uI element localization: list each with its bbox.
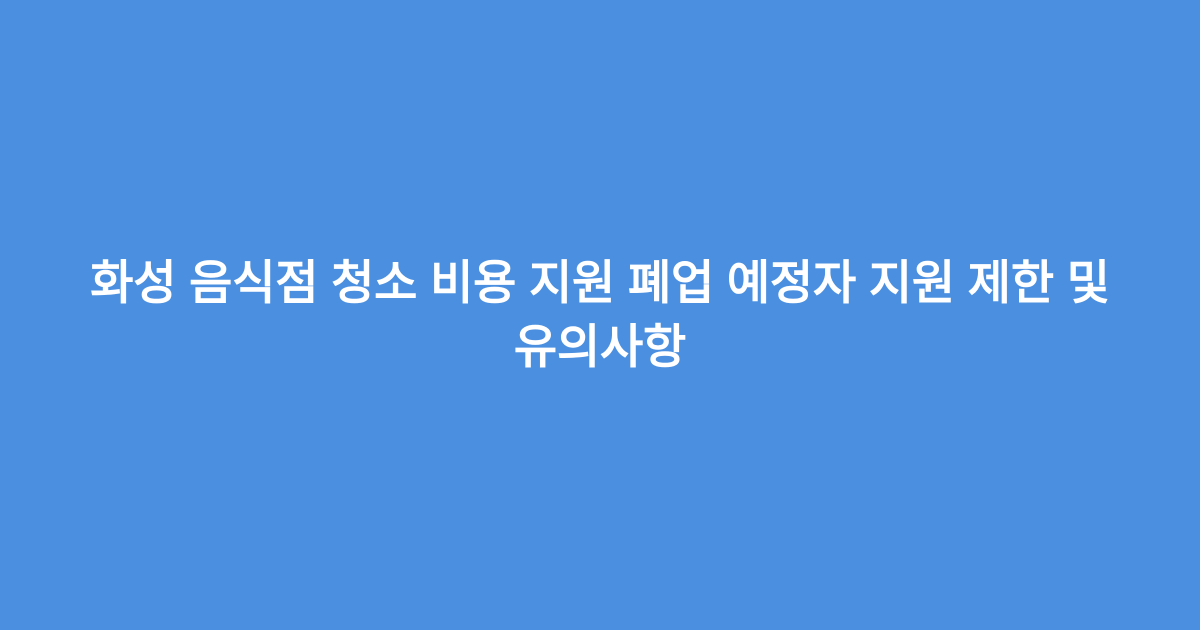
share-card: 화성 음식점 청소 비용 지원 폐업 예정자 지원 제한 및 유의사항 [0, 0, 1200, 630]
page-title: 화성 음식점 청소 비용 지원 폐업 예정자 지원 제한 및 유의사항 [56, 251, 1144, 379]
